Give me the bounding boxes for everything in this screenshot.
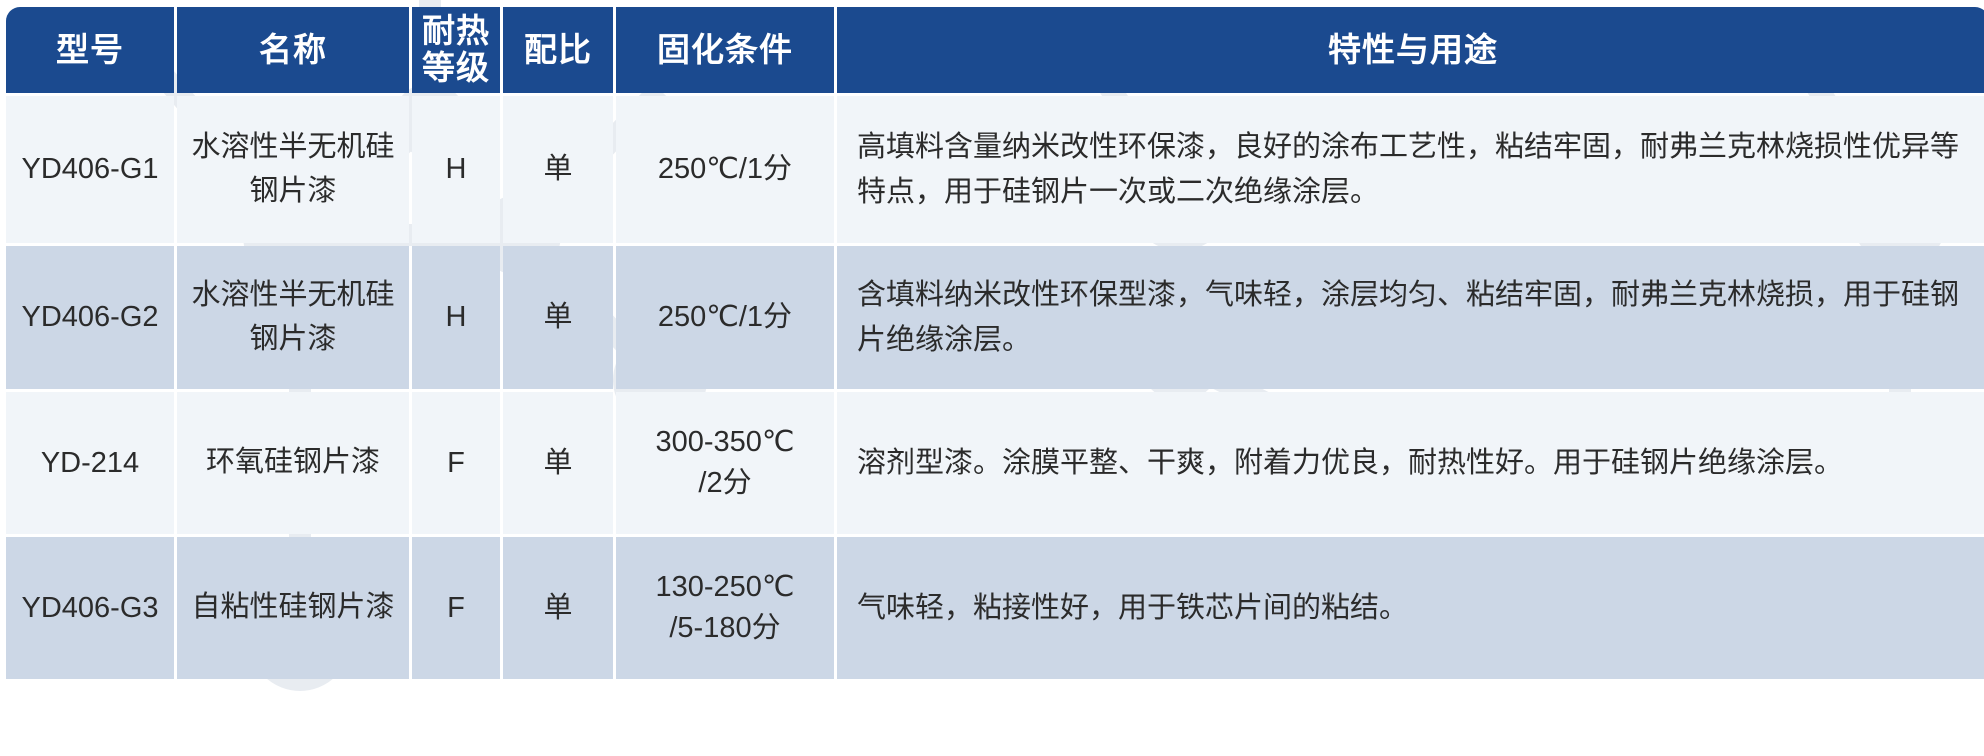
column-header-model: 型号 — [6, 7, 174, 93]
column-header-name: 名称 — [177, 7, 409, 93]
header-row: 型号 名称 耐热 等级 配比 固化条件 特性与用途 — [6, 7, 1984, 93]
table-row: YD406-G3 自粘性硅钢片漆 F 单 130-250℃ /5-180分 气味… — [6, 537, 1984, 679]
table-row: YD-214 环氧硅钢片漆 F 单 300-350℃ /2分 溶剂型漆。涂膜平整… — [6, 392, 1984, 534]
cell-curing-condition: 300-350℃ /2分 — [616, 392, 834, 534]
cell-description: 溶剂型漆。涂膜平整、干爽，附着力优良，耐热性好。用于硅钢片绝缘涂层。 — [837, 392, 1984, 534]
column-header-curing-condition: 固化条件 — [616, 7, 834, 93]
cell-ratio: 单 — [503, 392, 613, 534]
column-header-heat-class: 耐热 等级 — [412, 7, 500, 93]
cell-heat-class: H — [412, 96, 500, 243]
product-spec-table: 型号 名称 耐热 等级 配比 固化条件 特性与用途 YD406-G1 水溶性半无… — [3, 4, 1984, 682]
cell-curing-condition: 250℃/1分 — [616, 96, 834, 243]
table-row: YD406-G1 水溶性半无机硅 钢片漆 H 单 250℃/1分 高填料含量纳米… — [6, 96, 1984, 243]
cell-model: YD-214 — [6, 392, 174, 534]
cell-description: 含填料纳米改性环保型漆，气味轻，涂层均匀、粘结牢固，耐弗兰克林烧损，用于硅钢片绝… — [837, 246, 1984, 389]
cell-ratio: 单 — [503, 246, 613, 389]
cell-name: 水溶性半无机硅 钢片漆 — [177, 96, 409, 243]
cell-heat-class: F — [412, 537, 500, 679]
cell-heat-class: F — [412, 392, 500, 534]
cell-model: YD406-G2 — [6, 246, 174, 389]
column-header-features-uses: 特性与用途 — [837, 7, 1984, 93]
cell-name: 环氧硅钢片漆 — [177, 392, 409, 534]
cell-curing-condition: 250℃/1分 — [616, 246, 834, 389]
table-body: YD406-G1 水溶性半无机硅 钢片漆 H 单 250℃/1分 高填料含量纳米… — [6, 96, 1984, 679]
table-row: YD406-G2 水溶性半无机硅 钢片漆 H 单 250℃/1分 含填料纳米改性… — [6, 246, 1984, 389]
cell-name: 自粘性硅钢片漆 — [177, 537, 409, 679]
cell-ratio: 单 — [503, 96, 613, 243]
table-page: 型号 名称 耐热 等级 配比 固化条件 特性与用途 YD406-G1 水溶性半无… — [0, 0, 1984, 756]
cell-curing-condition: 130-250℃ /5-180分 — [616, 537, 834, 679]
cell-heat-class: H — [412, 246, 500, 389]
cell-model: YD406-G3 — [6, 537, 174, 679]
cell-description: 高填料含量纳米改性环保漆，良好的涂布工艺性，粘结牢固，耐弗兰克林烧损性优异等特点… — [837, 96, 1984, 243]
column-header-ratio: 配比 — [503, 7, 613, 93]
cell-name: 水溶性半无机硅 钢片漆 — [177, 246, 409, 389]
table-header: 型号 名称 耐热 等级 配比 固化条件 特性与用途 — [6, 7, 1984, 93]
cell-model: YD406-G1 — [6, 96, 174, 243]
cell-ratio: 单 — [503, 537, 613, 679]
cell-description: 气味轻，粘接性好，用于铁芯片间的粘结。 — [837, 537, 1984, 679]
